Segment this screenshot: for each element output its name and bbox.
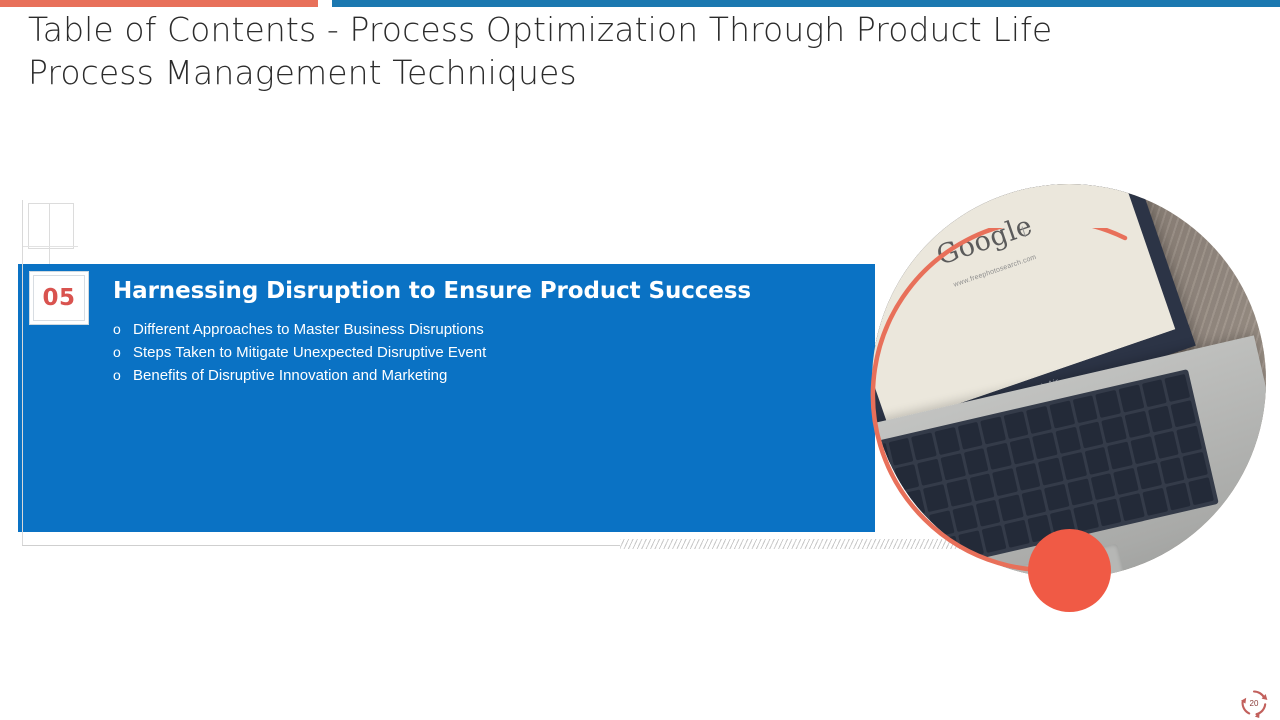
top-accent-bar-coral — [0, 0, 318, 7]
section-number-label: 05 — [33, 275, 85, 321]
decorative-foot — [22, 246, 78, 247]
list-item: o Different Approaches to Master Busines… — [113, 318, 486, 341]
page-number-badge: 20 — [1237, 688, 1271, 718]
bottom-divider-line — [22, 545, 622, 546]
photo-desk-background: Google www.freephotosearch.com MacBook A… — [872, 184, 1266, 578]
bullet-marker-icon: o — [113, 364, 133, 387]
coral-dot-decoration — [1028, 529, 1111, 612]
section-panel — [18, 264, 875, 532]
list-item-label: Benefits of Disruptive Innovation and Ma… — [133, 364, 447, 387]
section-heading: Harnessing Disruption to Ensure Product … — [113, 278, 751, 304]
section-bullet-list: o Different Approaches to Master Busines… — [113, 318, 486, 387]
section-number-badge: 05 — [30, 272, 88, 324]
list-item-label: Different Approaches to Master Business … — [133, 318, 484, 341]
laptop-typing-photo: Google www.freephotosearch.com MacBook A… — [872, 184, 1266, 578]
slide-canvas: Table of Contents - Process Optimization… — [0, 0, 1280, 720]
page-number-label: 20 — [1237, 688, 1271, 718]
bullet-marker-icon: o — [113, 341, 133, 364]
list-item: o Benefits of Disruptive Innovation and … — [113, 364, 486, 387]
decorative-stem — [49, 203, 50, 265]
decorative-frame — [28, 203, 74, 249]
top-accent-bar-blue — [332, 0, 1280, 7]
google-wordmark: Google — [872, 184, 1133, 305]
decorative-vertical-line — [22, 200, 23, 545]
page-title: Table of Contents - Process Optimization… — [28, 8, 1158, 94]
list-item-label: Steps Taken to Mitigate Unexpected Disru… — [133, 341, 486, 364]
bullet-marker-icon: o — [113, 318, 133, 341]
list-item: o Steps Taken to Mitigate Unexpected Dis… — [113, 341, 486, 364]
